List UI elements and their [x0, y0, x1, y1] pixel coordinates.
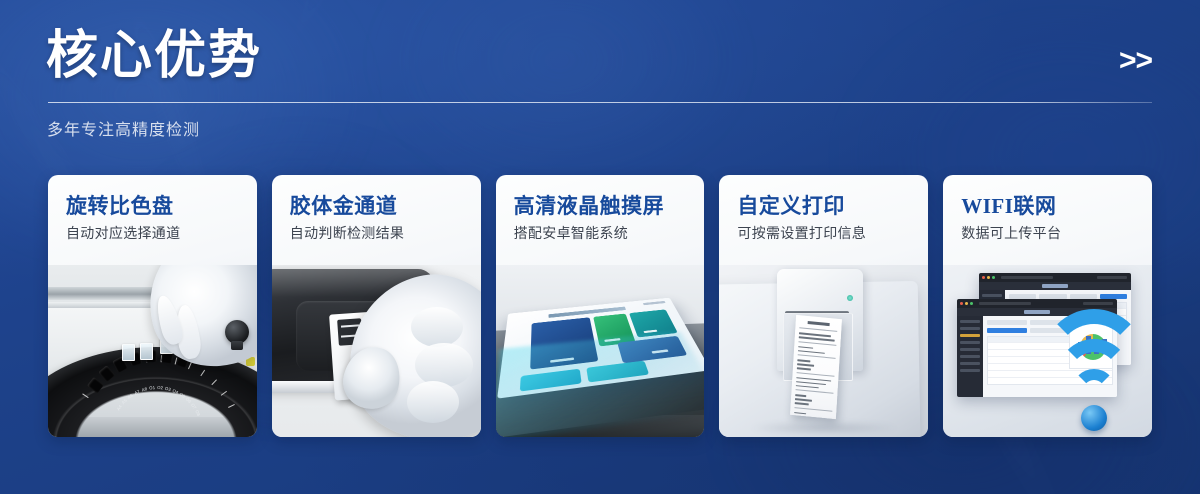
card-title: 高清液晶触摸屏	[514, 193, 705, 220]
card-title: 自定义打印	[737, 193, 928, 220]
printed-receipt	[790, 315, 842, 419]
page-subtitle: 多年专注高精度检测	[47, 120, 200, 142]
card-header: WIFI联网 数据可上传平台	[943, 175, 1152, 243]
section-header: 核心优势 >> 多年专注高精度检测	[0, 0, 1200, 165]
card-subtitle: 可按需设置打印信息	[737, 223, 928, 243]
card-header: 高清液晶触摸屏 搭配安卓智能系统	[496, 175, 705, 243]
card-image-colloidal-gold	[272, 265, 481, 437]
more-arrow-icon[interactable]: >>	[1119, 44, 1152, 78]
card-image-wifi-platform	[943, 265, 1152, 437]
page-title: 核心优势	[46, 26, 262, 88]
feature-card-colloidal-gold[interactable]: 胶体金通道 自动判断检测结果	[272, 175, 481, 437]
card-header: 胶体金通道 自动判断检测结果	[272, 175, 481, 243]
card-title: 旋转比色盘	[66, 193, 257, 220]
header-divider	[48, 102, 1152, 103]
card-subtitle: 数据可上传平台	[961, 223, 1152, 243]
card-subtitle: 搭配安卓智能系统	[514, 223, 705, 243]
card-title: WIFI联网	[961, 193, 1152, 220]
card-subtitle: 自动判断检测结果	[290, 223, 481, 243]
wifi-icon	[1042, 331, 1146, 431]
feature-card-wifi[interactable]: WIFI联网 数据可上传平台	[943, 175, 1152, 437]
feature-card-lcd-touchscreen[interactable]: 高清液晶触摸屏 搭配安卓智能系统	[496, 175, 705, 437]
card-image-custom-print	[719, 265, 928, 437]
feature-card-custom-print[interactable]: 自定义打印 可按需设置打印信息	[719, 175, 928, 437]
card-title: 胶体金通道	[290, 193, 481, 220]
feature-card-list: 旋转比色盘 自动对应选择通道	[48, 175, 1152, 437]
card-header: 自定义打印 可按需设置打印信息	[719, 175, 928, 243]
card-image-lcd-touchscreen	[496, 265, 705, 437]
card-subtitle: 自动对应选择通道	[66, 223, 257, 243]
card-image-rotating-disc: A4 A5 A6 A7 A8 O1 O2 O3 O4 O5 O6 O7 O8	[48, 265, 257, 437]
feature-card-rotating-disc[interactable]: 旋转比色盘 自动对应选择通道	[48, 175, 257, 437]
card-header: 旋转比色盘 自动对应选择通道	[48, 175, 257, 243]
